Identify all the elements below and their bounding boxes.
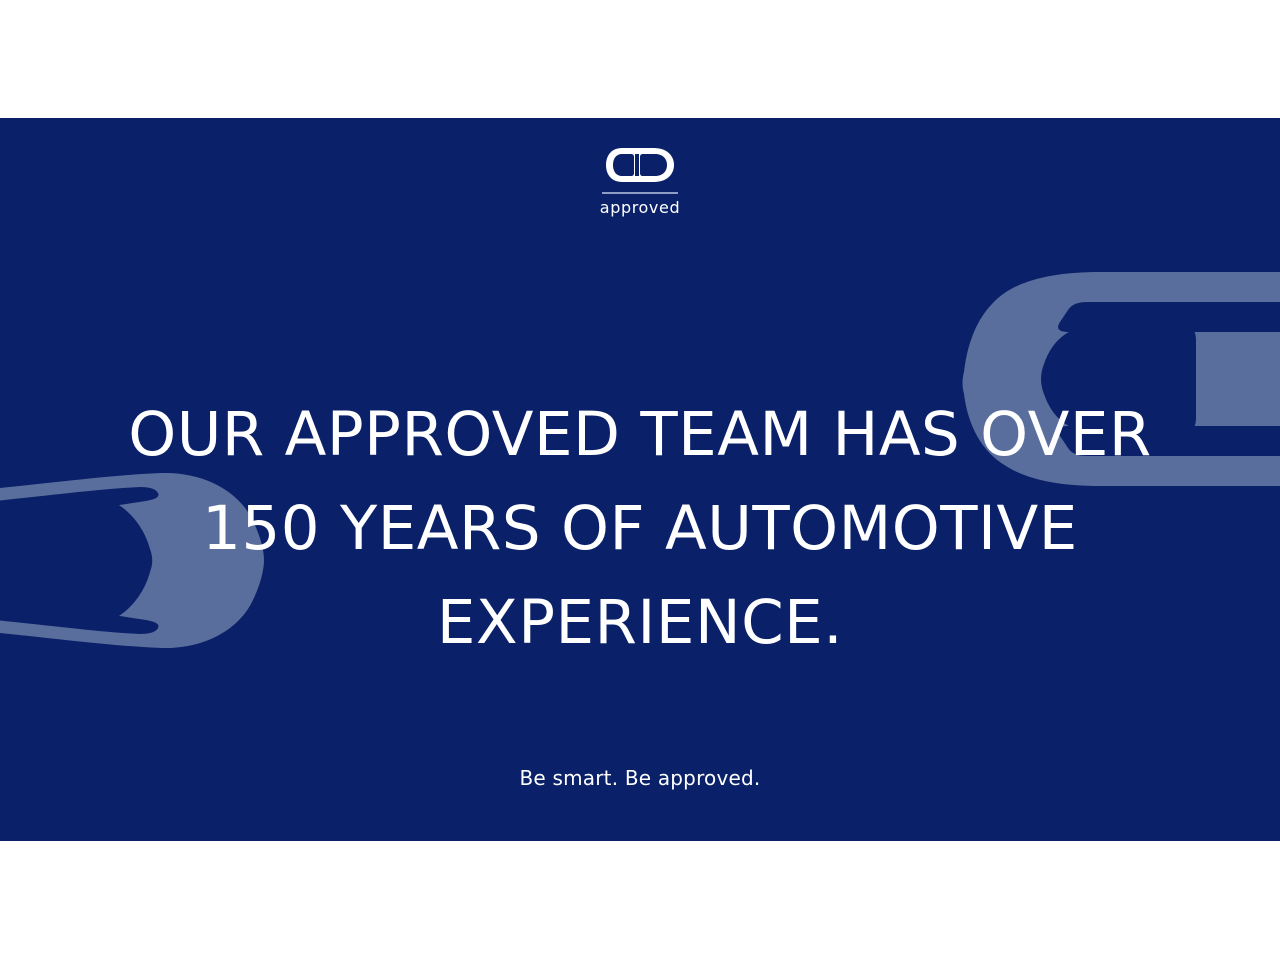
page-root: approved OUR APPROVED TEAM HAS OVER 150 … xyxy=(0,0,1280,960)
headline-line-1: OUR APPROVED TEAM HAS OVER xyxy=(0,388,1280,482)
logo-divider xyxy=(602,192,678,194)
headline: OUR APPROVED TEAM HAS OVER 150 YEARS OF … xyxy=(0,388,1280,670)
headline-line-2: 150 YEARS OF AUTOMOTIVE xyxy=(0,482,1280,576)
approved-car-logo-icon xyxy=(604,146,676,184)
brand-logo: approved xyxy=(0,146,1280,218)
logo-car-shape xyxy=(606,148,674,182)
tagline: Be smart. Be approved. xyxy=(0,766,1280,790)
headline-line-3: EXPERIENCE. xyxy=(0,576,1280,670)
logo-wordmark: approved xyxy=(0,198,1280,218)
hero-banner: approved OUR APPROVED TEAM HAS OVER 150 … xyxy=(0,118,1280,841)
